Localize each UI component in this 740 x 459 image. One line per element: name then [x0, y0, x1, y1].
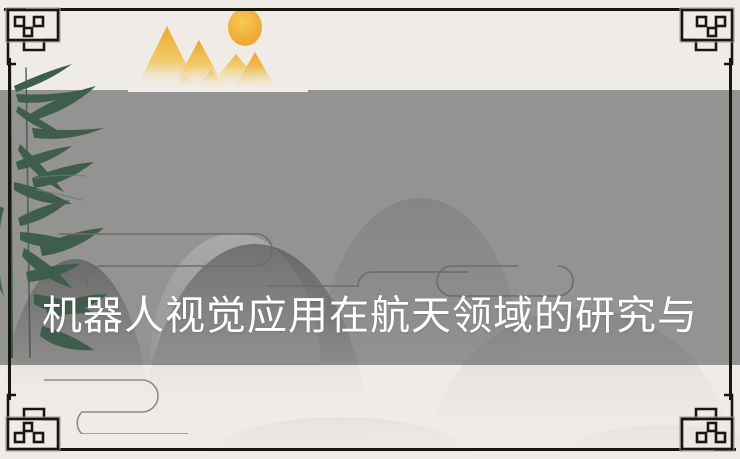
poster-title: 机器人视觉应用在航天领域的研究与 应用案例分析 [0, 176, 740, 459]
poster-title-line-1: 机器人视觉应用在航天领域的研究与 [0, 288, 740, 344]
corner-ornament-top-left [4, 4, 70, 70]
sun-icon [228, 8, 262, 46]
corner-ornament-top-right [670, 4, 736, 70]
frame-line-top [58, 8, 682, 11]
poster-canvas: 机器人视觉应用在航天领域的研究与 应用案例分析 [0, 0, 740, 459]
gold-mountain-fade [128, 66, 308, 92]
gold-mountain-illustration [128, 4, 308, 92]
